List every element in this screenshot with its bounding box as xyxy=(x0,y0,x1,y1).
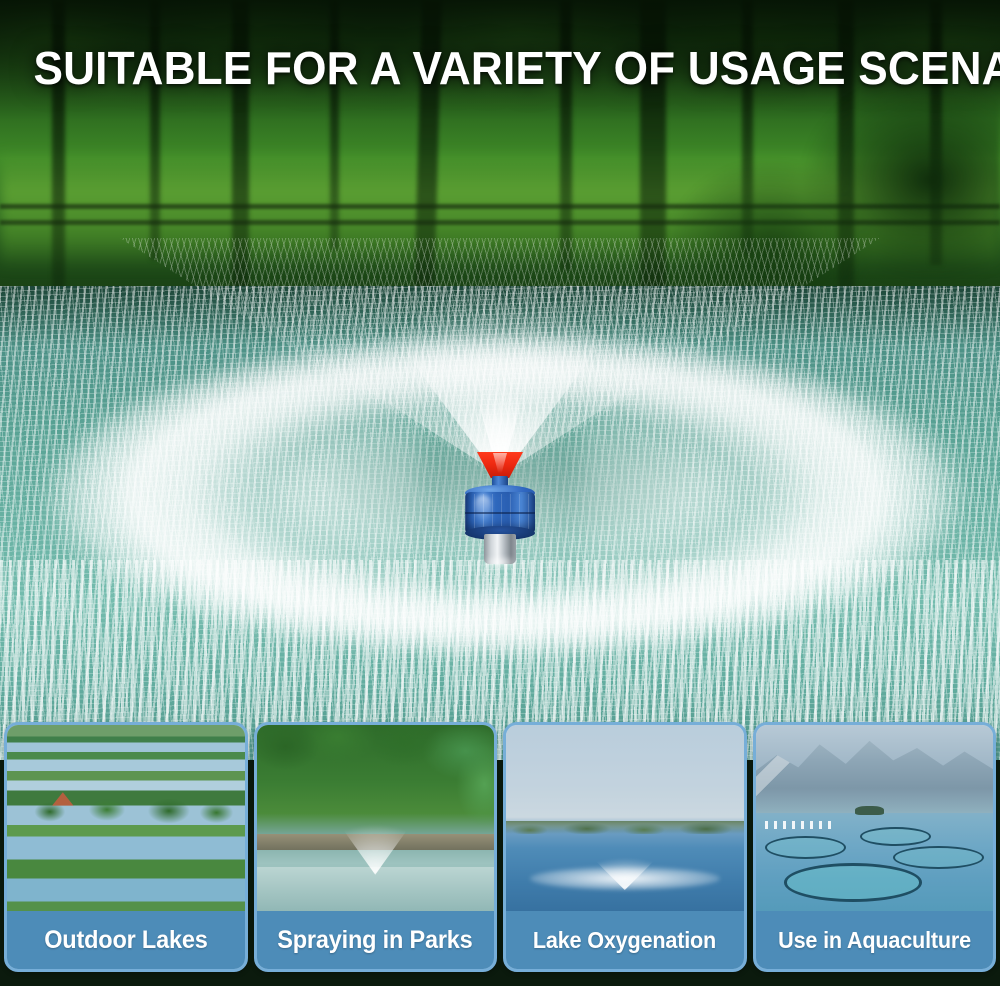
photo-fish-pen xyxy=(860,827,931,846)
card-caption-bar: Use in Aquaculture xyxy=(756,911,994,969)
photo-fish-pen xyxy=(765,836,846,859)
card-caption-bar: Outdoor Lakes xyxy=(7,911,245,969)
card-caption-label: Spraying in Parks xyxy=(278,926,473,955)
red-spray-nozzle-icon xyxy=(477,452,523,478)
scenario-card-row: Outdoor Lakes Spraying in Parks xyxy=(0,722,1000,986)
float-highlight xyxy=(475,495,491,521)
hero-image: SUITABLE FOR A VARIETY OF USAGE SCENARIO… xyxy=(0,0,1000,760)
card-caption-label: Lake Oxygenation xyxy=(533,927,716,954)
photo-islet xyxy=(855,806,884,816)
card-photo-spraying-in-parks xyxy=(257,725,495,917)
photo-buoy-line xyxy=(765,821,836,829)
float-seam-line xyxy=(465,512,535,514)
floating-fountain-pump xyxy=(463,452,537,560)
photo-fish-pen xyxy=(893,846,983,869)
product-infographic: SUITABLE FOR A VARIETY OF USAGE SCENARIO… xyxy=(0,0,1000,986)
scenario-card-outdoor-lakes[interactable]: Outdoor Lakes xyxy=(4,722,248,972)
nozzle-highlight xyxy=(493,453,507,473)
scenario-card-lake-oxygenation[interactable]: Lake Oxygenation xyxy=(503,722,747,972)
photo-park-fountain xyxy=(257,725,495,917)
waterline-splash xyxy=(483,558,517,568)
scenario-card-spraying-in-parks[interactable]: Spraying in Parks xyxy=(254,722,498,972)
card-photo-outdoor-lakes xyxy=(7,725,245,917)
photo-snow-mountains xyxy=(756,725,994,813)
card-caption-bar: Lake Oxygenation xyxy=(506,911,744,969)
page-title: SUITABLE FOR A VARIETY OF USAGE SCENARIO… xyxy=(20,42,980,94)
photo-trees xyxy=(7,786,245,828)
scenario-card-use-in-aquaculture[interactable]: Use in Aquaculture xyxy=(753,722,997,972)
photo-open-lake-fountain xyxy=(506,725,744,917)
card-caption-label: Outdoor Lakes xyxy=(44,926,207,955)
card-caption-label: Use in Aquaculture xyxy=(778,927,971,954)
photo-fish-pen xyxy=(784,863,922,901)
card-caption-bar: Spraying in Parks xyxy=(257,911,495,969)
card-photo-use-in-aquaculture xyxy=(756,725,994,917)
card-photo-lake-oxygenation xyxy=(506,725,744,917)
photo-mountain-lake-pens xyxy=(756,725,994,917)
photo-strip-ponds xyxy=(7,725,245,917)
